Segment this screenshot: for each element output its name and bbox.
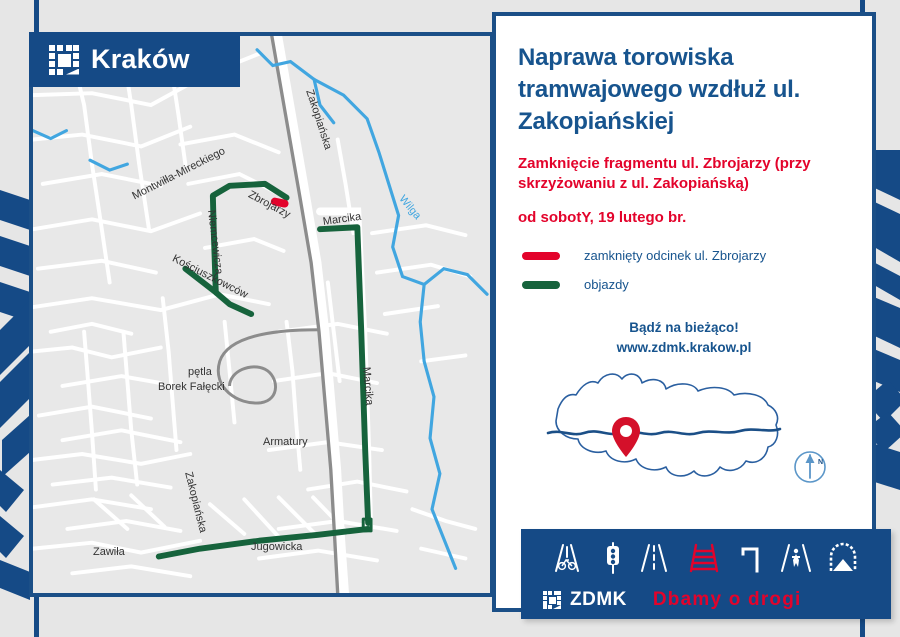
- city-outline-block: N: [518, 363, 850, 493]
- map-legend: zamknięty odcinek ul. Zbrojarzy objazdy: [522, 248, 850, 292]
- street-lamp-icon: [735, 541, 765, 575]
- road-icon: [639, 541, 673, 575]
- krakow-pixel-mark-icon: [49, 45, 79, 75]
- zdmk-icon-row: [521, 529, 891, 581]
- legend-label-detour: objazdy: [584, 277, 629, 292]
- map-graphic[interactable]: [33, 36, 490, 593]
- pedestrian-crossing-icon: [779, 541, 813, 575]
- zdmk-slogan: Dbamy o drogi: [653, 589, 802, 611]
- website-url[interactable]: www.zdmk.krakow.pl: [518, 338, 850, 358]
- legend-label-closed: zamknięty odcinek ul. Zbrojarzy: [584, 248, 766, 263]
- legend-swatch-detour: [522, 281, 560, 289]
- north-letter-label: N: [818, 459, 823, 466]
- start-date-text: od sobotY, 19 lutego br.: [518, 209, 850, 226]
- map-panel[interactable]: ZakopiańskaMontwiłła-MireckiegoZbrojarzy…: [29, 32, 494, 597]
- legend-swatch-closed: [522, 252, 560, 260]
- bike-lane-icon: [553, 541, 587, 575]
- closure-subheading: Zamknięcie fragmentu ul. Zbrojarzy (przy…: [518, 154, 850, 195]
- tunnel-icon: [827, 541, 859, 575]
- stay-updated-block: Bądź na bieżąco! www.zdmk.krakow.pl: [518, 318, 850, 357]
- map-street-label: Armatury: [263, 436, 308, 448]
- zdmk-pixel-mark-icon: [543, 591, 561, 609]
- map-street-label: Jugowicka: [251, 541, 302, 553]
- zdmk-identity-row: ZDMK Dbamy o drogi: [521, 581, 891, 619]
- poster-root: ZakopiańskaMontwiłła-MireckiegoZbrojarzy…: [0, 0, 900, 637]
- zdmk-wordmark: ZDMK: [570, 589, 627, 611]
- krakow-wordmark: Kraków: [91, 46, 190, 73]
- legend-item-detour: objazdy: [522, 277, 850, 292]
- krakow-city-outline-icon: [528, 363, 788, 483]
- legend-item-closed: zamknięty odcinek ul. Zbrojarzy: [522, 248, 850, 263]
- krakow-logo-badge[interactable]: Kraków: [29, 32, 240, 87]
- map-street-label: Zawiła: [93, 546, 125, 558]
- page-title: Naprawa torowiska tramwajowego wzdłuż ul…: [518, 42, 850, 138]
- info-panel: Naprawa torowiska tramwajowego wzdłuż ul…: [492, 12, 876, 612]
- map-street-label: pętla: [188, 366, 212, 378]
- tram-track-icon: [687, 541, 721, 575]
- stay-updated-heading: Bądź na bieżąco!: [518, 318, 850, 338]
- traffic-light-icon: [601, 541, 625, 575]
- map-street-label: Borek Fałęcki: [158, 381, 225, 393]
- zdmk-logo[interactable]: ZDMK: [543, 589, 627, 611]
- north-arrow-icon: N: [788, 445, 832, 489]
- zdmk-footer-bar: ZDMK Dbamy o drogi: [521, 529, 891, 619]
